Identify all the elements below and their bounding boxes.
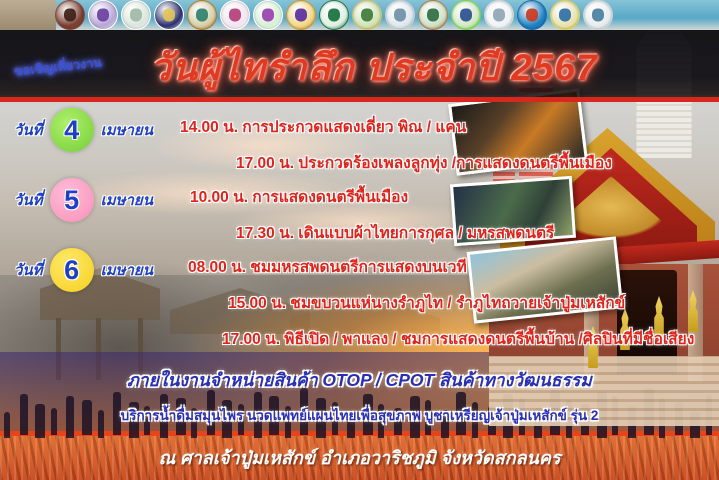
agency-emblem-strip [0,0,719,30]
month-label: เมษายน [101,258,153,282]
day-number-badge-4: 4 [50,108,94,152]
schedule-event: 08.00 น. ชมมหรสพดนตรีการแสดงบนเวที [188,254,467,279]
schedule-event: 10.00 น. การแสดงดนตรีพื้นเมือง [190,184,408,209]
emblem-seal-1-mark [64,9,76,22]
emblem-seal-4-mark [163,9,175,22]
day-number-badge-6: 6 [50,248,94,292]
emblem-seal-15 [517,0,547,30]
emblem-seal-5-mark [196,9,208,22]
day-prefix-label: วันที่ [14,258,43,282]
day-number-badge-5: 5 [50,178,94,222]
emblem-seal-6 [220,0,250,30]
emblem-seal-3-mark [130,9,142,22]
emblem-seal-7 [253,0,283,30]
emblem-seal-15-mark [526,9,538,22]
emblem-seal-14-mark [493,9,505,22]
emblem-seal-3 [121,0,151,30]
emblem-seal-8 [286,0,316,30]
page-title: วันผู้ไทรำลึก ประจำปี 2567 [150,38,598,97]
emblem-seal-2-mark [97,9,109,22]
schedule-event: 15.00 น. ชมขบวนแห่นางรำภูไท / รำภูไทถวาย… [228,290,625,315]
emblem-seal-2 [88,0,118,30]
emblem-seal-17-mark [592,9,604,22]
day-prefix-label: วันที่ [14,118,43,142]
emblem-seal-16 [550,0,580,30]
emblem-seal-13-mark [460,9,472,22]
month-label: เมษายน [101,118,153,142]
emblem-seal-11 [385,0,415,30]
day-prefix-label: วันที่ [14,188,43,212]
emblem-seal-7-mark [262,9,274,22]
emblem-seal-17 [583,0,613,30]
emblem-seal-1 [55,0,85,30]
emblem-seal-5 [187,0,217,30]
emblem-seal-10 [352,0,382,30]
month-label: เมษายน [101,188,153,212]
emblem-strip-left-mask [0,0,56,30]
emblem-seal-9 [319,0,349,30]
schedule-event: 17.00 น. พิธีเปิด / พาแลง / ชมการแสดงดนต… [222,326,694,351]
schedule-list: วันที่4เมษายน14.00 น. การประกวดแสดงเดี่ย… [0,100,719,350]
event-poster: ขอเชิญเที่ยวงาน วันผู้ไทรำลึก ประจำปี 25… [0,0,719,480]
schedule-event: 17.00 น. ประกวดร้องเพลงลูกทุ่ง /การแสดงด… [236,150,612,175]
schedule-day-header-6: วันที่6เมษายน [14,248,153,292]
emblem-seal-12 [418,0,448,30]
schedule-day-header-5: วันที่5เมษายน [14,178,153,222]
emblem-seal-9-mark [328,9,340,22]
schedule-event: 17.30 น. เดินแบบผ้าไทยการกุศล / มหรสพดนต… [236,220,554,245]
emblem-seal-14 [484,0,514,30]
schedule-day-header-4: วันที่4เมษายน [14,108,153,152]
emblem-seal-11-mark [394,9,406,22]
emblem-seal-12-mark [427,9,439,22]
emblem-seal-10-mark [361,9,373,22]
footer-line-venue: ณ ศาลเจ้าปู่มเหสักข์ อำเภอวาริชภูมิ จังห… [0,443,719,472]
schedule-event: 14.00 น. การประกวดแสดงเดี่ยว พิณ / แคน [180,114,466,139]
footer-line-services: บริการน้ำดื่มสมุนไพร นวดแพทย์แผนไทยเพื่อ… [0,404,719,426]
emblem-seal-4 [154,0,184,30]
emblem-seal-13 [451,0,481,30]
emblem-seal-16-mark [559,9,571,22]
emblem-seal-6-mark [229,9,241,22]
footer-line-otop: ภายในงานจำหน่ายสินค้า OTOP / CPOT สินค้า… [0,366,719,394]
emblem-seal-8-mark [295,9,307,22]
